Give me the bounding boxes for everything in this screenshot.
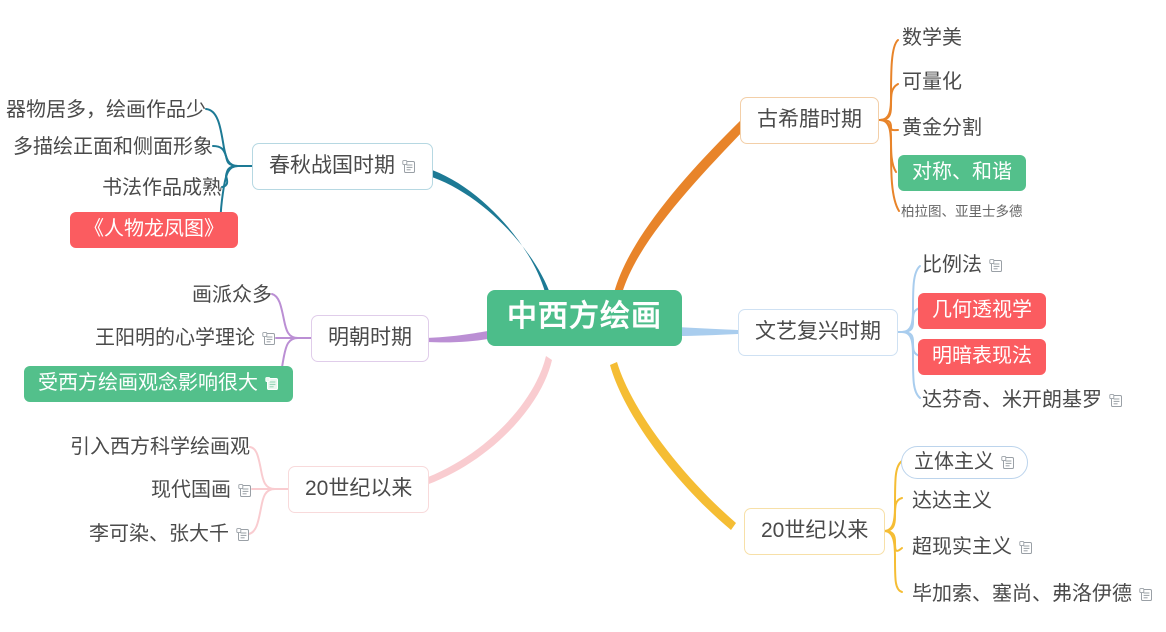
topic-node-ershiright[interactable]: 20世纪以来: [744, 508, 885, 555]
subline-chunqiu-1: [213, 146, 252, 166]
leaf-label: 受西方绘画观念影响很大: [38, 373, 258, 393]
leaf-label: 毕加索、塞尚、弗洛伊德: [912, 584, 1132, 604]
leaf-badge-node[interactable]: 《人物龙凤图》: [70, 212, 238, 248]
topic-node-guxila[interactable]: 古希腊时期: [740, 97, 879, 144]
leaf-node[interactable]: 引入西方科学绘画观: [60, 435, 250, 459]
leaf-node-selected[interactable]: 立体主义: [901, 446, 1028, 479]
leaf-node[interactable]: 数学美: [902, 26, 962, 50]
leaf-badge-node[interactable]: 受西方绘画观念影响很大: [24, 366, 293, 402]
subline-ershileft-2: [249, 489, 288, 534]
topic-label: 明朝时期: [328, 327, 412, 348]
note-icon[interactable]: [1139, 588, 1153, 602]
leaf-label: 数学美: [902, 28, 962, 48]
branch-curve-ershiright: [610, 362, 736, 530]
leaf-label: 明暗表现法: [932, 346, 1032, 366]
note-icon[interactable]: [1109, 394, 1123, 408]
leaf-node[interactable]: 达芬奇、米开朗基罗: [922, 388, 1123, 412]
leaf-label: 引入西方科学绘画观: [70, 437, 250, 457]
branch-curve-chunqiu: [414, 165, 551, 296]
leaf-node[interactable]: 超现实主义: [912, 535, 1033, 559]
topic-node-wenyi[interactable]: 文艺复兴时期: [738, 309, 898, 356]
leaf-label: 达芬奇、米开朗基罗: [922, 390, 1102, 410]
note-icon[interactable]: [402, 160, 416, 174]
leaf-node[interactable]: 可量化: [902, 70, 962, 94]
leaf-label: 超现实主义: [912, 537, 1012, 557]
leaf-label: 对称、和谐: [912, 162, 1012, 182]
leaf-label: 立体主义: [914, 452, 994, 472]
note-icon[interactable]: [236, 528, 250, 542]
note-icon[interactable]: [262, 332, 276, 346]
note-icon[interactable]: [265, 377, 279, 391]
note-icon[interactable]: [1001, 456, 1015, 470]
note-icon[interactable]: [238, 484, 252, 498]
leaf-node[interactable]: 柏拉图、亚里士多德: [901, 203, 1023, 221]
leaf-label: 画派众多: [192, 285, 272, 305]
topic-label: 20世纪以来: [761, 520, 868, 541]
leaf-label: 比例法: [922, 255, 982, 275]
leaf-label: 达达主义: [912, 491, 992, 511]
branch-curve-mingchao: [426, 331, 488, 342]
note-icon[interactable]: [1019, 541, 1033, 555]
topic-label: 春秋战国时期: [269, 155, 395, 176]
branch-curve-wenyi: [676, 327, 738, 336]
leaf-label: 可量化: [902, 72, 962, 92]
leaf-label: 柏拉图、亚里士多德: [901, 205, 1023, 219]
leaf-node[interactable]: 现代国画: [110, 478, 252, 502]
note-icon[interactable]: [989, 259, 1003, 273]
branch-curve-guxila: [614, 120, 747, 297]
leaf-label: 多描绘正面和侧面形象: [13, 137, 213, 157]
leaf-label: 现代国画: [151, 480, 231, 500]
subline-chunqiu-2: [222, 166, 252, 187]
leaf-label: 王阳明的心学理论: [95, 328, 255, 348]
leaf-badge-node[interactable]: 几何透视学: [918, 293, 1046, 329]
subline-ershileft-0: [250, 447, 288, 489]
leaf-label: 几何透视学: [932, 300, 1032, 320]
leaf-node[interactable]: 多描绘正面和侧面形象: [17, 135, 213, 159]
leaf-node[interactable]: 毕加索、塞尚、弗洛伊德: [912, 582, 1153, 606]
leaf-badge-node[interactable]: 对称、和谐: [898, 155, 1026, 191]
leaf-node[interactable]: 书法作品成熟: [102, 176, 222, 200]
topic-label: 20世纪以来: [305, 478, 412, 499]
leaf-node[interactable]: 王阳明的心学理论: [66, 326, 276, 350]
leaf-label: 黄金分割: [902, 118, 982, 138]
topic-node-mingchao[interactable]: 明朝时期: [311, 315, 429, 362]
subline-mingchao-0: [272, 294, 311, 338]
leaf-label: 《人物龙凤图》: [84, 219, 224, 239]
leaf-node[interactable]: 器物居多，绘画作品少: [10, 98, 206, 122]
leaf-node[interactable]: 达达主义: [912, 489, 992, 513]
leaf-node[interactable]: 比例法: [922, 253, 1003, 277]
topic-node-ershileft[interactable]: 20世纪以来: [288, 466, 429, 513]
topic-node-chunqiu[interactable]: 春秋战国时期: [252, 143, 433, 190]
leaf-node[interactable]: 李可染、张大千: [78, 522, 250, 546]
topic-label: 文艺复兴时期: [755, 321, 881, 342]
leaf-label: 器物居多，绘画作品少: [6, 100, 206, 120]
root-node[interactable]: 中西方绘画: [487, 290, 682, 346]
topic-label: 古希腊时期: [757, 109, 862, 130]
branch-curve-ershileft: [414, 356, 552, 489]
leaf-label: 书法作品成熟: [102, 178, 222, 198]
root-label: 中西方绘画: [507, 302, 662, 332]
leaf-node[interactable]: 黄金分割: [902, 116, 982, 140]
leaf-label: 李可染、张大千: [89, 524, 229, 544]
mindmap-canvas: 中西方绘画 春秋战国时期 器物居多，绘画作品少 多描绘正面和侧面形象 书法作品成…: [0, 0, 1166, 632]
leaf-badge-node[interactable]: 明暗表现法: [918, 339, 1046, 375]
leaf-node[interactable]: 王阳明的心学理论 画派众多: [172, 283, 272, 307]
